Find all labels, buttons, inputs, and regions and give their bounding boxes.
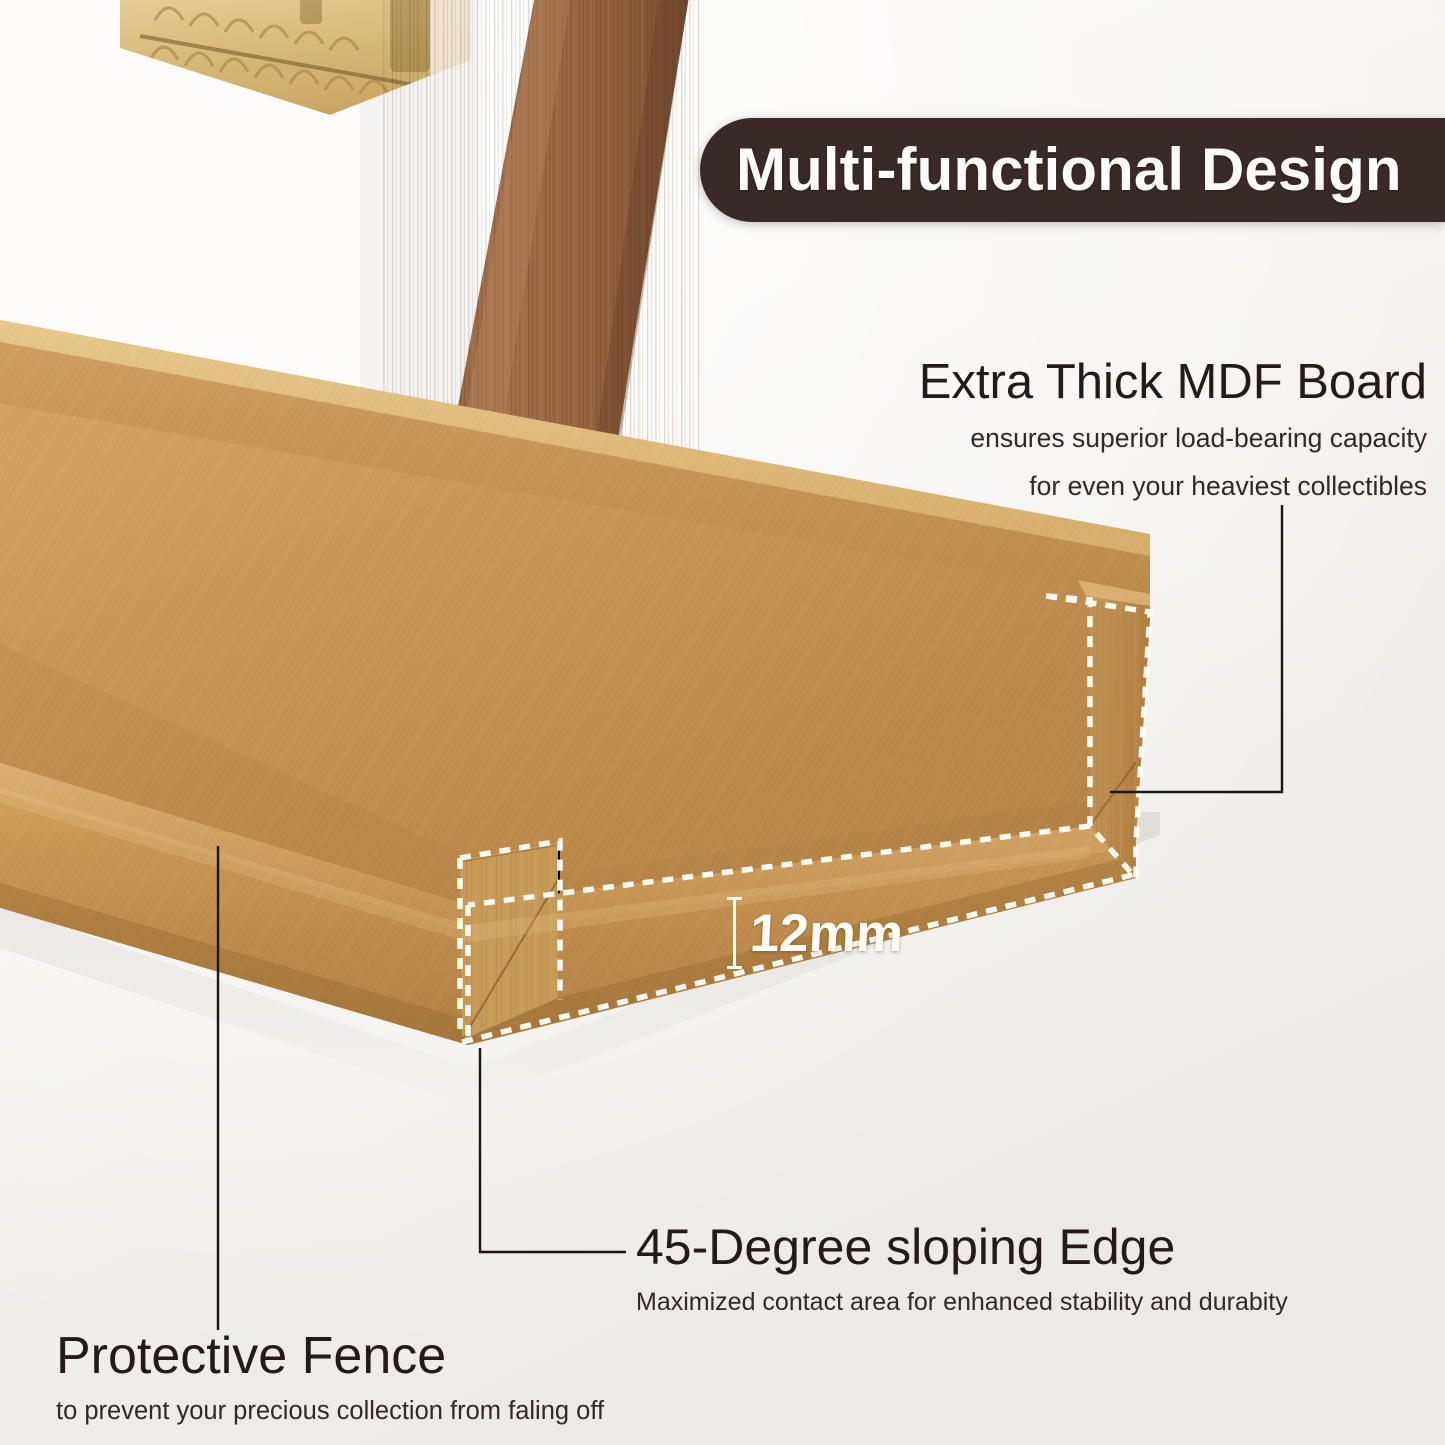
callout-sloping-edge: 45-Degree sloping Edge Maximized contact… [636,1222,1288,1318]
callout-mdf-subtitle-line1: ensures superior load-bearing capacity [919,422,1427,456]
callout-mdf-title: Extra Thick MDF Board [919,358,1427,408]
callout-protective-fence: Protective Fence to prevent your preciou… [56,1330,604,1428]
callout-edge-title: 45-Degree sloping Edge [636,1222,1288,1273]
header-banner: Multi-functional Design [700,118,1445,222]
callout-edge-subtitle: Maximized contact area for enhanced stab… [636,1286,1288,1318]
callout-mdf-board: Extra Thick MDF Board ensures superior l… [919,358,1427,504]
callout-fence-subtitle: to prevent your precious collection from… [56,1395,604,1428]
callout-mdf-subtitle-line2: for even your heaviest collectibles [919,470,1427,504]
infographic-canvas: Multi-functional Design Extra Thick MDF … [0,0,1445,1445]
callout-fence-title: Protective Fence [56,1330,604,1383]
header-banner-label: Multi-functional Design [736,140,1402,200]
